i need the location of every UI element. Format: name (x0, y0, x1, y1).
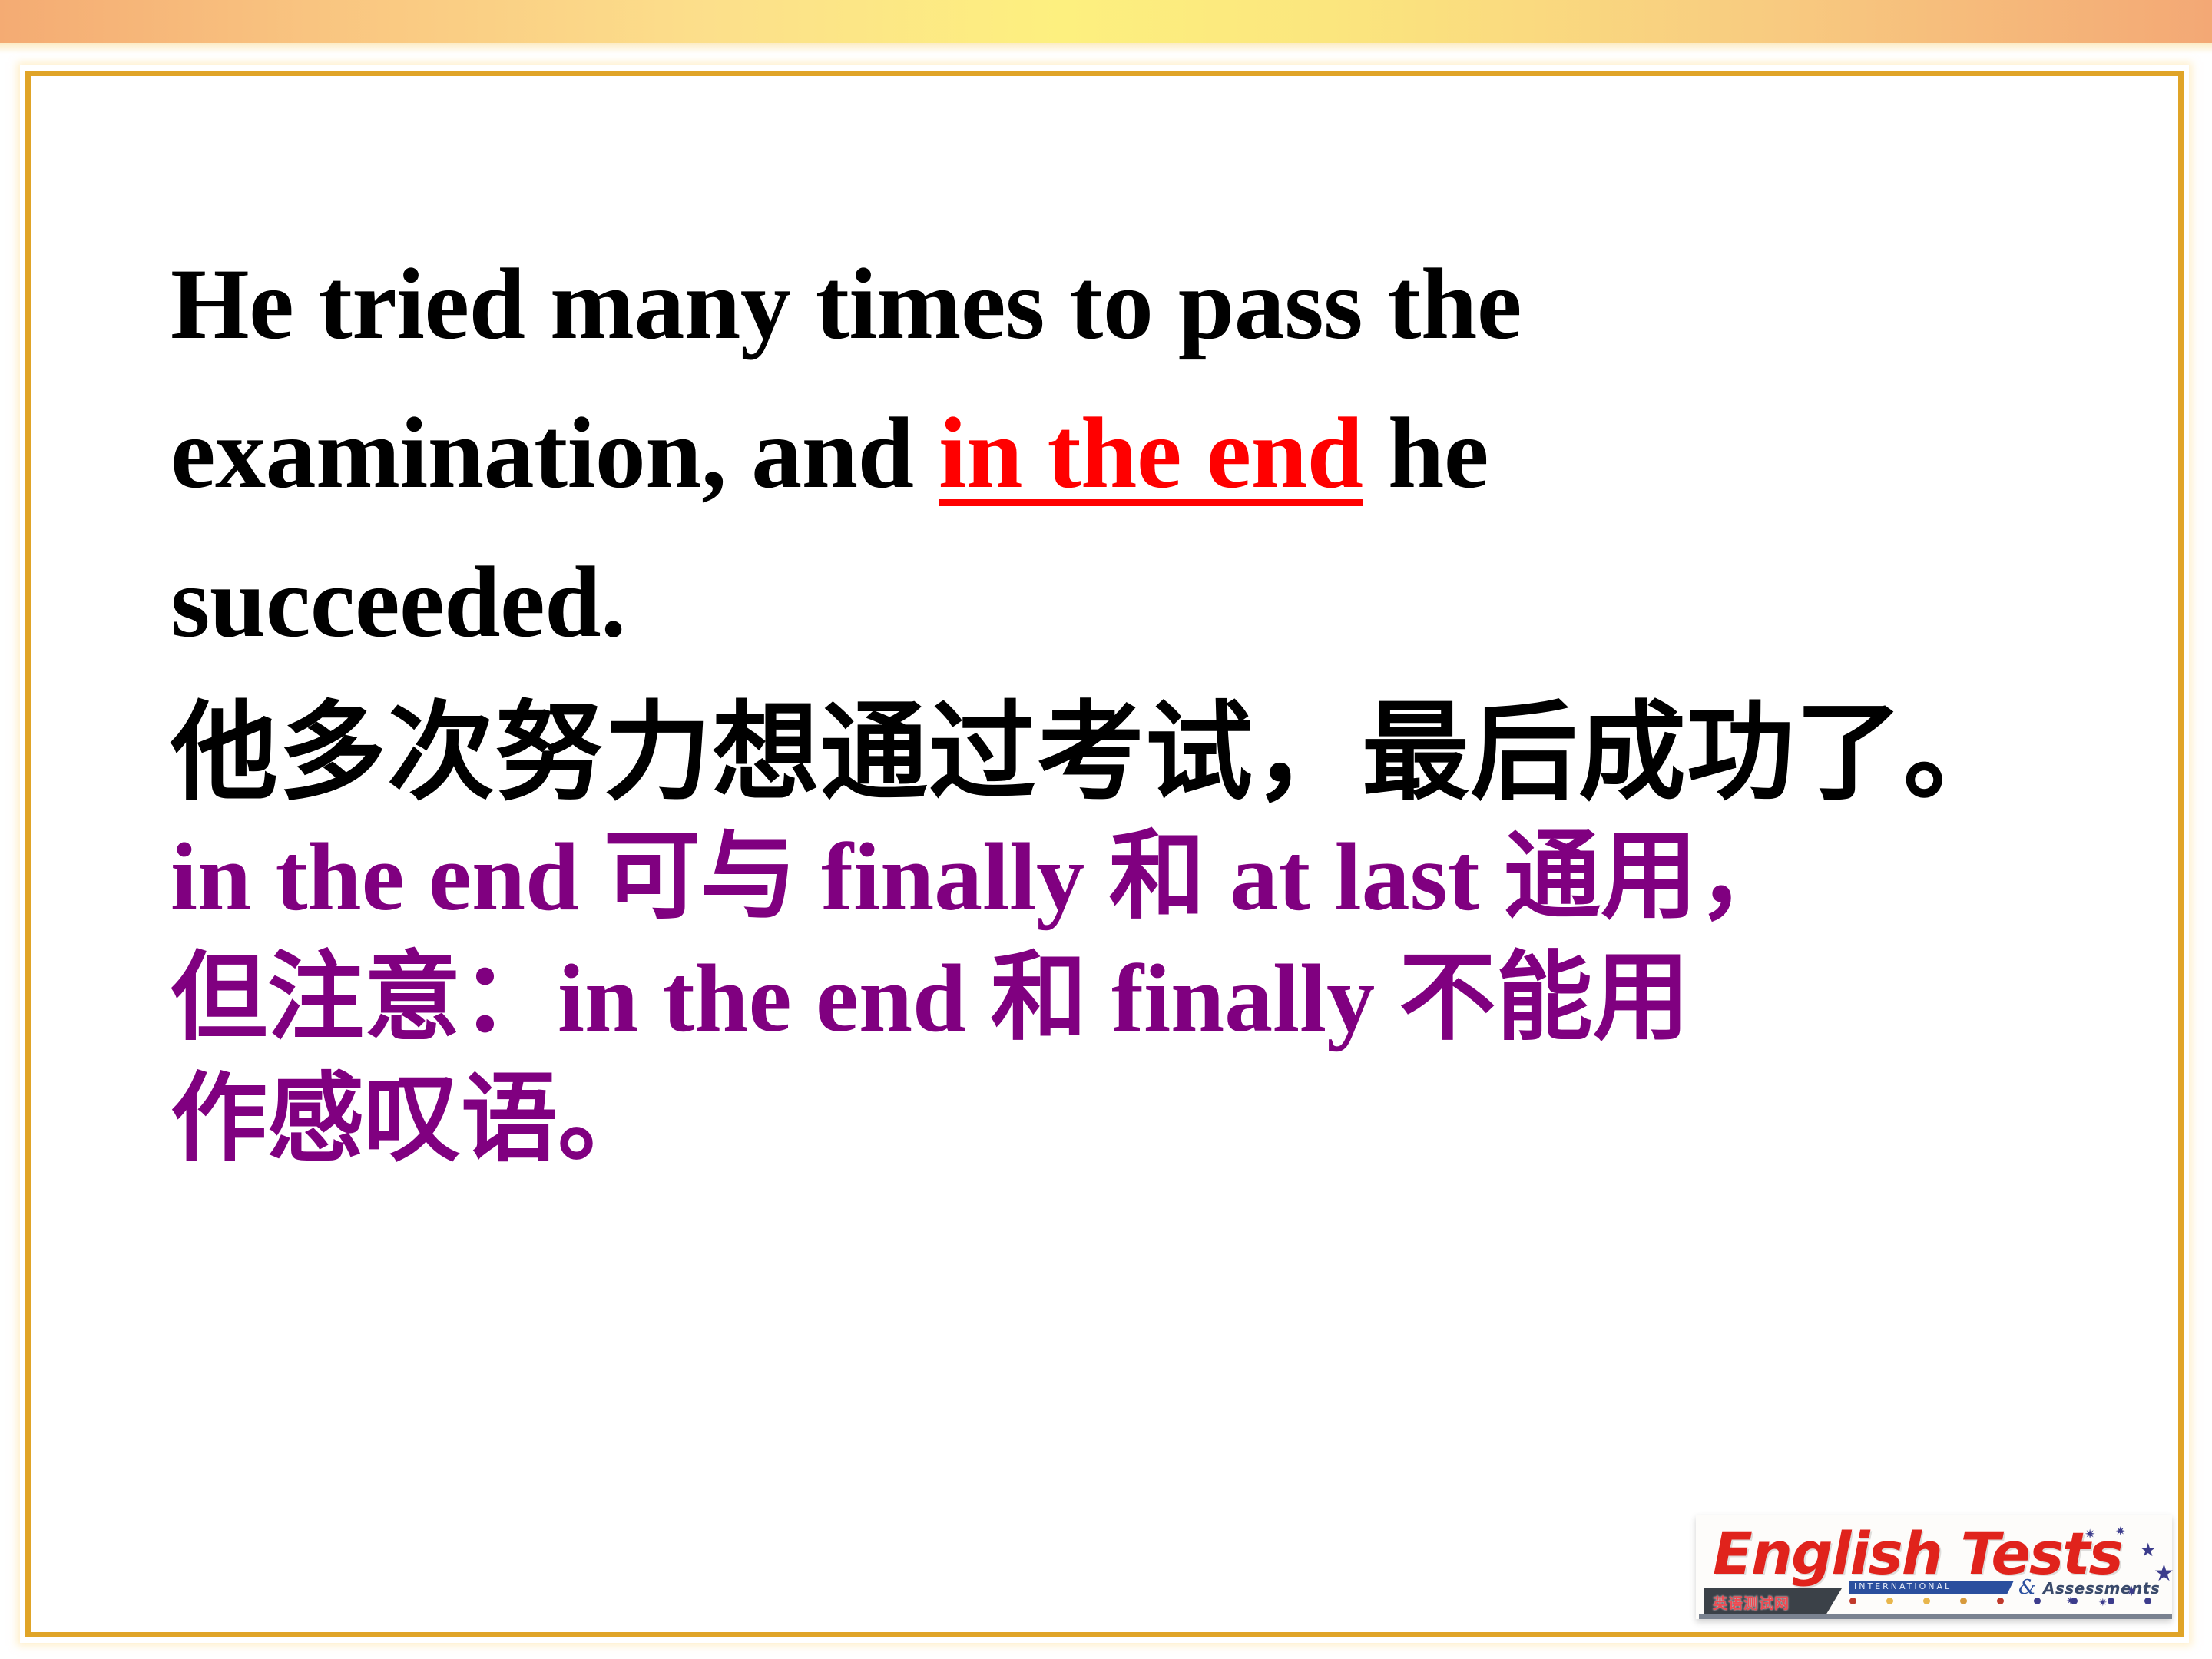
note-line-3: 作感叹语。 (171, 1072, 2091, 1169)
slide-content: He tried many times to pass the examinat… (171, 253, 2091, 1194)
star-icon: ✷ (2126, 1585, 2137, 1599)
star-icon: ✷ (2085, 1528, 2095, 1541)
star-icon: ✷ (2066, 1596, 2075, 1607)
star-icon: ★ (2140, 1541, 2157, 1559)
chinese-translation-line: 他多次努力想通过考试，最后成功了。 (171, 700, 2091, 808)
logo-dot (2034, 1598, 2041, 1604)
note-line-1: in the end 可与 finally 和 at last 通用， (171, 829, 2091, 926)
logo-chinese-label: 英语测试网 (1713, 1592, 1790, 1613)
logo-dot (1923, 1598, 1930, 1604)
note-line-1-text: in the end 可与 finally 和 at last 通用， (171, 824, 1794, 931)
logo-dot (1886, 1598, 1893, 1604)
english-line-2-after: he (1363, 396, 1488, 509)
star-icon: ★ (2154, 1562, 2174, 1585)
star-icon: ✷ (2115, 1525, 2125, 1538)
english-line-3: succeeded. (171, 551, 2091, 653)
english-line-1-text: He tried many times to pass the (171, 247, 1522, 360)
highlighted-phrase-in-the-end: in the end (939, 396, 1363, 509)
logo-baseline-bar (1699, 1614, 2172, 1619)
logo-dot (1960, 1598, 1967, 1604)
note-line-2-text: 但注意：in the end 和 finally 不能用 (171, 945, 1690, 1052)
note-line-2: 但注意：in the end 和 finally 不能用 (171, 951, 2091, 1048)
english-tests-logo: English Tests INTERNATIONAL & Assessment… (1696, 1515, 2187, 1631)
logo-blue-bar-label: INTERNATIONAL (1854, 1581, 2008, 1593)
star-icon: ✷ (2098, 1598, 2108, 1608)
logo-dot (1849, 1598, 1856, 1604)
note-line-3-text: 作感叹语。 (171, 1067, 654, 1174)
logo-dot (2108, 1598, 2114, 1604)
top-gradient-band (0, 0, 2212, 43)
english-line-2-before: examination, and (171, 396, 939, 509)
english-line-3-text: succeeded. (171, 545, 626, 658)
logo-dot (2144, 1598, 2151, 1604)
logo-ampersand: & (2018, 1576, 2036, 1599)
top-band-fade (0, 43, 2212, 54)
logo-dot-row (1849, 1598, 2157, 1607)
slide-canvas: He tried many times to pass the examinat… (0, 0, 2212, 1659)
english-line-1: He tried many times to pass the (171, 253, 2091, 355)
english-line-2: examination, and in the end he (171, 402, 2091, 504)
logo-assessments-label: Assessments (2043, 1579, 2160, 1598)
logo-dot (1997, 1598, 2004, 1604)
chinese-translation-text: 他多次努力想通过考试，最后成功了。 (171, 694, 2012, 813)
logo-wordmark-text: English Tests (1713, 1519, 2122, 1588)
